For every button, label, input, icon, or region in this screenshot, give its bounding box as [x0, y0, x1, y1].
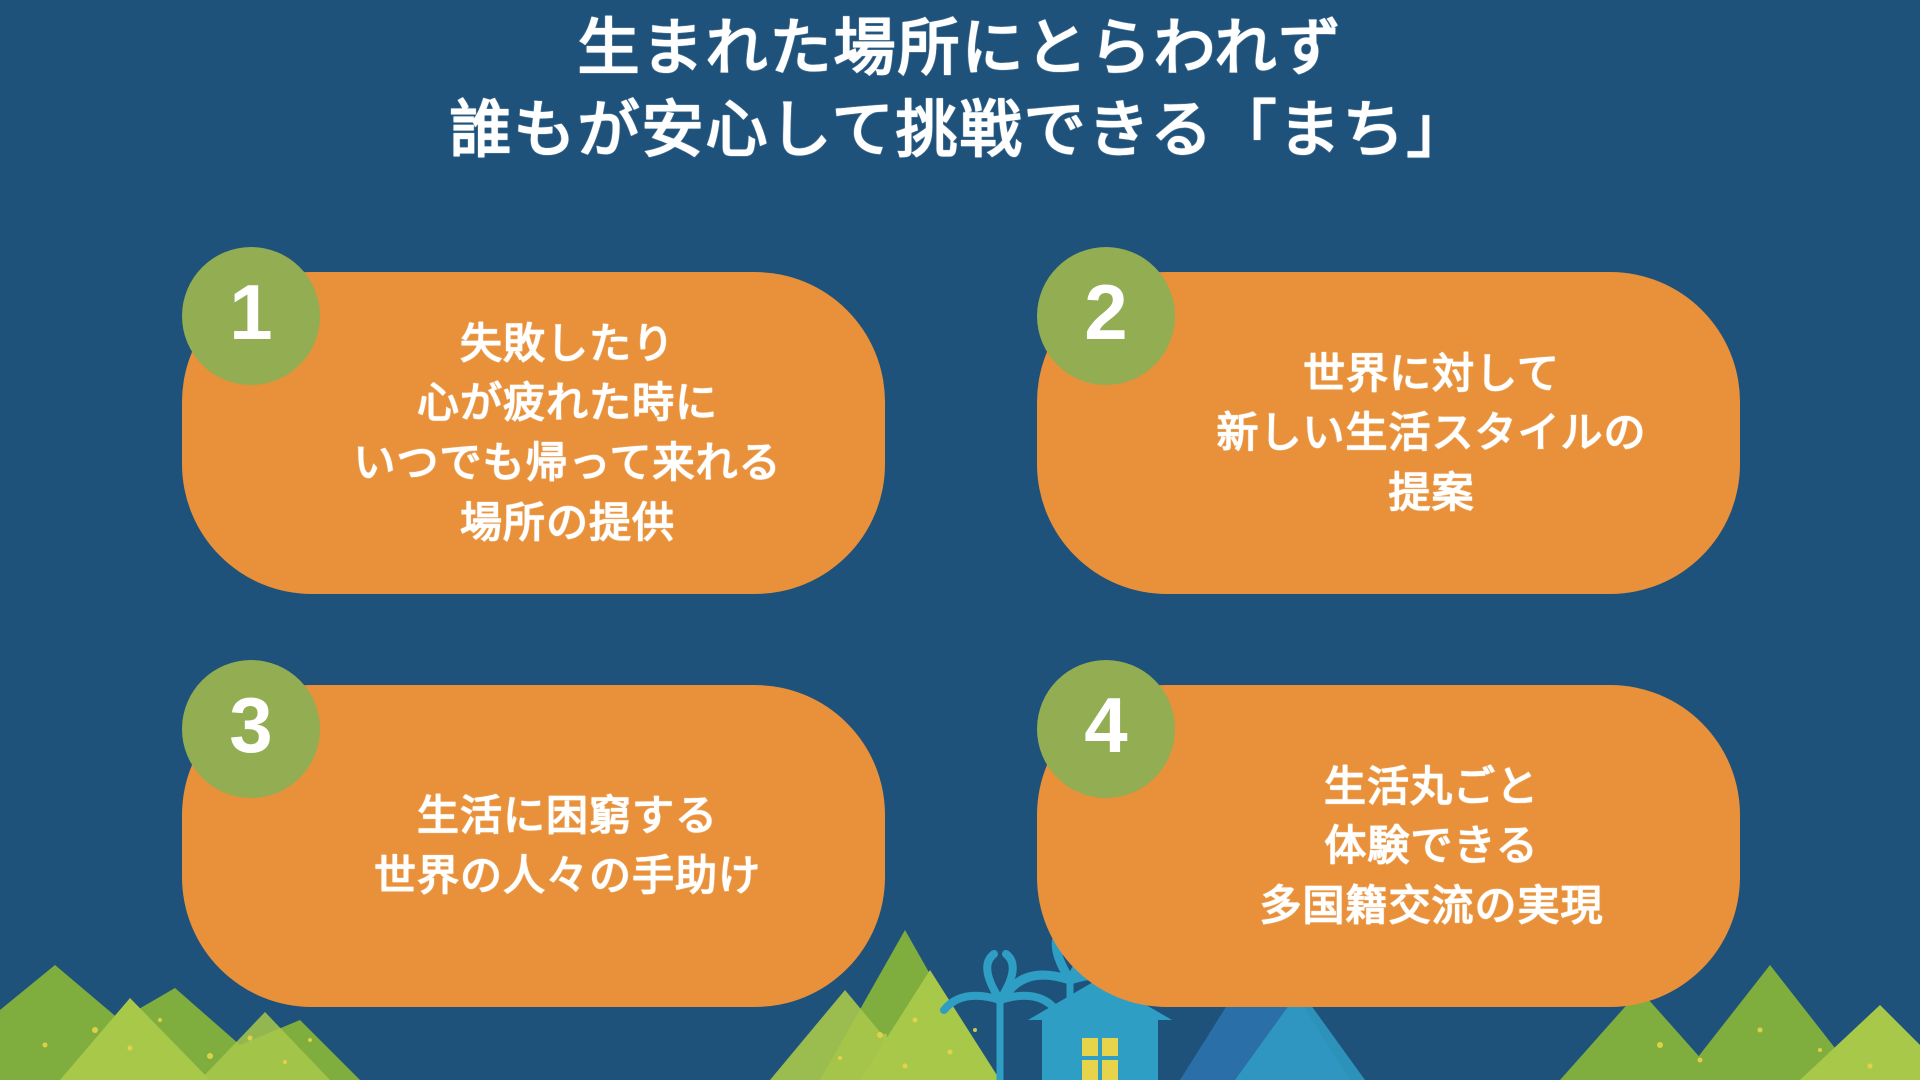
slide-title: 生まれた場所にとらわれず 誰もが安心して挑戦できる「まち」	[0, 8, 1920, 172]
card-3-text: 生活に困窮する 世界の人々の手助け	[278, 786, 789, 905]
title-line-2: 誰もが安心して挑戦できる「まち」	[0, 90, 1920, 172]
card-2-text: 世界に対して 新しい生活スタイルの 提案	[1112, 344, 1664, 523]
card-4-number-badge: 4	[1037, 660, 1175, 798]
card-3-number: 3	[229, 686, 272, 764]
card-2-number-badge: 2	[1037, 247, 1175, 385]
title-line-1: 生まれた場所にとらわれず	[0, 8, 1920, 90]
card-2-number: 2	[1084, 273, 1127, 351]
card-grid: 失敗したり 心が疲れた時に いつでも帰って来れる 場所の提供 1 世界に対して …	[0, 255, 1920, 1045]
slide-canvas: 生まれた場所にとらわれず 誰もが安心して挑戦できる「まち」 失敗したり 心が疲れ…	[0, 0, 1920, 1080]
card-1-number: 1	[229, 273, 272, 351]
card-3-number-badge: 3	[182, 660, 320, 798]
card-4-text: 生活丸ごと 体験できる 多国籍交流の実現	[1155, 757, 1621, 936]
card-4-number: 4	[1084, 686, 1127, 764]
card-1-number-badge: 1	[182, 247, 320, 385]
card-1-text: 失敗したり 心が疲れた時に いつでも帰って来れる 場所の提供	[258, 314, 810, 553]
